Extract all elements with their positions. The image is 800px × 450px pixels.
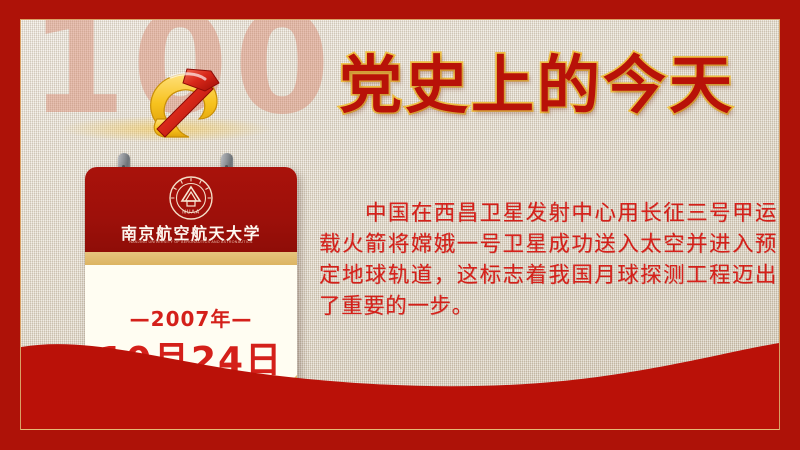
gold-hairline-rule bbox=[21, 429, 779, 430]
university-name-en: NANJING UNIVERSITY OF AERONAUTICS AND AS… bbox=[87, 240, 295, 244]
page-title: 党史上的今天 bbox=[311, 52, 763, 118]
cpc-hammer-sickle-icon bbox=[127, 57, 231, 145]
svg-text:NUAA: NUAA bbox=[182, 209, 200, 215]
university-seal-icon: NUAA bbox=[169, 176, 213, 220]
calendar-body: —2007年— 10月24日 bbox=[85, 265, 297, 409]
calendar-folded-corner bbox=[263, 375, 297, 409]
calendar-header: NUAA 南京航空航天大学 NANJING UNIVERSITY OF AERO… bbox=[85, 167, 297, 252]
poster-canvas: 100 bbox=[0, 0, 800, 450]
event-description: 中国在西昌卫星发射中心用长征三号甲运载火箭将嫦娥一号卫星成功送入太空并进入预定地… bbox=[319, 198, 777, 322]
linen-panel: 100 bbox=[21, 20, 779, 429]
calendar-gold-band bbox=[85, 252, 297, 265]
calendar-year: —2007年— bbox=[85, 303, 297, 332]
calendar-card: NUAA 南京航空航天大学 NANJING UNIVERSITY OF AERO… bbox=[85, 167, 297, 409]
